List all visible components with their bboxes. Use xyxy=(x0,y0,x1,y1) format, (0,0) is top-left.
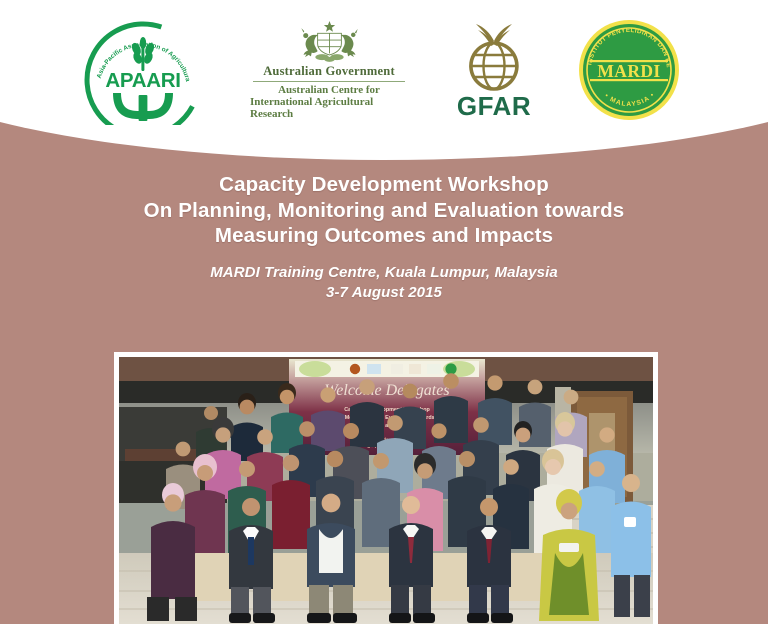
workshop-title: Capacity Development Workshop On Plannin… xyxy=(0,172,768,249)
gfar-wordmark: GFAR xyxy=(457,91,531,122)
ausgov-divider xyxy=(253,81,405,82)
venue-text: MARDI Training Centre, Kuala Lumpur, Mal… xyxy=(0,263,768,283)
gfar-logo: GFAR xyxy=(444,18,544,123)
group-photo-frame: Welcome Delegates Capacity Development W… xyxy=(114,352,658,624)
aciar-line2: International Agricultural Research xyxy=(250,96,408,120)
dates-text: 3-7 August 2015 xyxy=(0,283,768,303)
poster-page: Asia-Pacific Association of Agricultural… xyxy=(0,0,768,624)
banner-headline: Welcome Delegates xyxy=(324,382,449,399)
logo-header: Asia-Pacific Association of Agricultural… xyxy=(0,0,768,140)
svg-text:MARDI: MARDI xyxy=(597,61,660,81)
title-line-1: Capacity Development Workshop xyxy=(0,172,768,198)
svg-text:APAARI: APAARI xyxy=(105,69,180,92)
apaari-icon: Asia-Pacific Association of Agricultural… xyxy=(78,15,208,125)
gfar-globe-icon xyxy=(444,19,544,97)
title-line-2: On Planning, Monitoring and Evaluation t… xyxy=(0,198,768,224)
apaari-logo: Asia-Pacific Association of Agricultural… xyxy=(78,15,208,125)
mardi-logo: INSTITUT PENYELIDIKAN DAN KEMAJUAN PERTA… xyxy=(578,18,680,123)
aciar-logo: Australian Government Australian Centre … xyxy=(250,20,408,120)
group-photo-illustration: Welcome Delegates Capacity Development W… xyxy=(119,357,653,624)
workshop-subtitle: MARDI Training Centre, Kuala Lumpur, Mal… xyxy=(0,263,768,303)
ausgov-title: Australian Government xyxy=(263,64,395,79)
group-photo: Welcome Delegates Capacity Development W… xyxy=(119,357,653,624)
title-line-3: Measuring Outcomes and Impacts xyxy=(0,223,768,249)
aciar-line1: Australian Centre for xyxy=(278,84,380,96)
mardi-seal-icon: INSTITUT PENYELIDIKAN DAN KEMAJUAN PERTA… xyxy=(578,19,680,121)
australian-coat-of-arms-icon xyxy=(282,20,377,63)
